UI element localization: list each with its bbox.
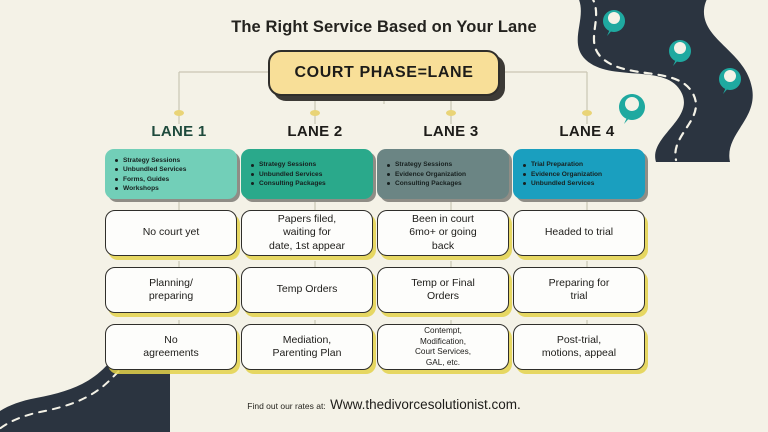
service-label: Strategy Sessions (123, 156, 180, 165)
lane-column-4: LANE 4 Trial Preparation Evidence Organi… (513, 122, 661, 370)
service-item: Trial Preparation (523, 160, 641, 169)
service-label: Workshops (123, 184, 159, 193)
bullet-icon (387, 164, 390, 167)
header-pill-label: COURT PHASE=LANE (295, 64, 474, 82)
service-item: Unbundled Services (523, 179, 641, 188)
stage-label: Temp Orders (277, 283, 338, 296)
lane-stage: Mediation,Parenting Plan (241, 324, 389, 370)
services-box: Strategy Sessions Unbundled Services For… (105, 149, 237, 199)
lane-stage: Temp or FinalOrders (377, 267, 525, 313)
stage-label: Mediation,Parenting Plan (273, 334, 342, 360)
stage-box: Papers filed,waiting fordate, 1st appear (241, 210, 373, 256)
stage-box: Temp or FinalOrders (377, 267, 509, 313)
bullet-icon (115, 187, 118, 190)
services-box: Strategy Sessions Unbundled Services Con… (241, 149, 373, 199)
lane-stage: Papers filed,waiting fordate, 1st appear (241, 210, 389, 256)
service-label: Evidence Organization (395, 170, 466, 179)
service-item: Evidence Organization (387, 170, 505, 179)
page-title: The Right Service Based on Your Lane (0, 18, 768, 37)
bullet-icon (387, 182, 390, 185)
stage-label: Been in court6mo+ or goingback (409, 213, 476, 252)
bullet-icon (115, 178, 118, 181)
service-label: Unbundled Services (531, 179, 594, 188)
stage-box: Post-trial,motions, appeal (513, 324, 645, 370)
service-item: Workshops (115, 184, 233, 193)
map-pin-icon (669, 40, 691, 66)
service-label: Consulting Packages (395, 179, 462, 188)
lane-stage: Post-trial,motions, appeal (513, 324, 661, 370)
bullet-icon (115, 159, 118, 162)
services-box: Trial Preparation Evidence Organization … (513, 149, 645, 199)
stage-label: Temp or FinalOrders (411, 277, 475, 303)
service-item: Consulting Packages (251, 179, 369, 188)
lane-services-group: Strategy Sessions Unbundled Services Con… (241, 149, 389, 199)
bullet-icon (387, 173, 390, 176)
bullet-icon (523, 173, 526, 176)
services-box: Strategy Sessions Evidence Organization … (377, 149, 509, 199)
service-label: Trial Preparation (531, 160, 583, 169)
stage-label: No court yet (143, 226, 200, 239)
bullet-icon (251, 182, 254, 185)
service-label: Unbundled Services (259, 170, 322, 179)
service-label: Unbundled Services (123, 165, 186, 174)
footer-prefix: Find out our rates at: (247, 401, 325, 411)
court-phase-header: COURT PHASE=LANE (268, 50, 500, 96)
bullet-icon (251, 173, 254, 176)
lane-column-2: LANE 2 Strategy Sessions Unbundled Servi… (241, 122, 389, 370)
stage-box: Planning/preparing (105, 267, 237, 313)
lane-stage: Been in court6mo+ or goingback (377, 210, 525, 256)
service-label: Consulting Packages (259, 179, 326, 188)
stage-box: No court yet (105, 210, 237, 256)
lane-stage: Planning/preparing (105, 267, 253, 313)
map-pin-icon (619, 94, 645, 124)
service-item: Unbundled Services (115, 165, 233, 174)
stage-box: Contempt,Modification,Court Services,GAL… (377, 324, 509, 370)
service-label: Evidence Organization (531, 170, 602, 179)
service-item: Strategy Sessions (387, 160, 505, 169)
lane-services-group: Strategy Sessions Evidence Organization … (377, 149, 525, 199)
lane-stage: Noagreements (105, 324, 253, 370)
lane-stage: Headed to trial (513, 210, 661, 256)
service-item: Strategy Sessions (115, 156, 233, 165)
lane-stage: Contempt,Modification,Court Services,GAL… (377, 324, 525, 370)
bullet-icon (251, 164, 254, 167)
lane-stage: Preparing fortrial (513, 267, 661, 313)
stage-box: Been in court6mo+ or goingback (377, 210, 509, 256)
stage-box: Noagreements (105, 324, 237, 370)
lane-title: LANE 3 (377, 122, 525, 144)
bullet-icon (115, 168, 118, 171)
service-label: Strategy Sessions (395, 160, 452, 169)
stage-box: Temp Orders (241, 267, 373, 313)
stage-label: Preparing fortrial (549, 277, 610, 303)
bullet-icon (523, 182, 526, 185)
footer: Find out our rates at: Www.thedivorcesol… (0, 396, 768, 414)
lane-services-group: Strategy Sessions Unbundled Services For… (105, 149, 253, 199)
stage-label: Contempt,Modification,Court Services,GAL… (415, 326, 471, 368)
stage-label: Planning/preparing (149, 277, 193, 303)
lane-column-3: LANE 3 Strategy Sessions Evidence Organi… (377, 122, 525, 370)
lane-title: LANE 1 (105, 122, 253, 144)
service-label: Forms, Guides (123, 175, 169, 184)
stage-label: Papers filed,waiting fordate, 1st appear (269, 213, 345, 252)
header-pill: COURT PHASE=LANE (268, 50, 500, 96)
stage-box: Preparing fortrial (513, 267, 645, 313)
service-label: Strategy Sessions (259, 160, 316, 169)
service-item: Unbundled Services (251, 170, 369, 179)
lane-stage: Temp Orders (241, 267, 389, 313)
service-item: Consulting Packages (387, 179, 505, 188)
stage-box: Mediation,Parenting Plan (241, 324, 373, 370)
infographic-canvas: The Right Service Based on Your Lane COU… (0, 0, 768, 432)
lane-column-1: LANE 1 Strategy Sessions Unbundled Servi… (105, 122, 253, 370)
service-item: Evidence Organization (523, 170, 641, 179)
service-item: Strategy Sessions (251, 160, 369, 169)
map-pin-icon (719, 68, 741, 94)
stage-label: Post-trial,motions, appeal (542, 334, 616, 360)
footer-website-url[interactable]: Www.thedivorcesolutionist.com. (330, 397, 521, 412)
stage-label: Headed to trial (545, 226, 613, 239)
lane-title: LANE 4 (513, 122, 661, 144)
service-item: Forms, Guides (115, 175, 233, 184)
stage-label: Noagreements (143, 334, 198, 360)
lane-stage: No court yet (105, 210, 253, 256)
bullet-icon (523, 164, 526, 167)
lane-title: LANE 2 (241, 122, 389, 144)
stage-box: Headed to trial (513, 210, 645, 256)
lane-services-group: Trial Preparation Evidence Organization … (513, 149, 661, 199)
